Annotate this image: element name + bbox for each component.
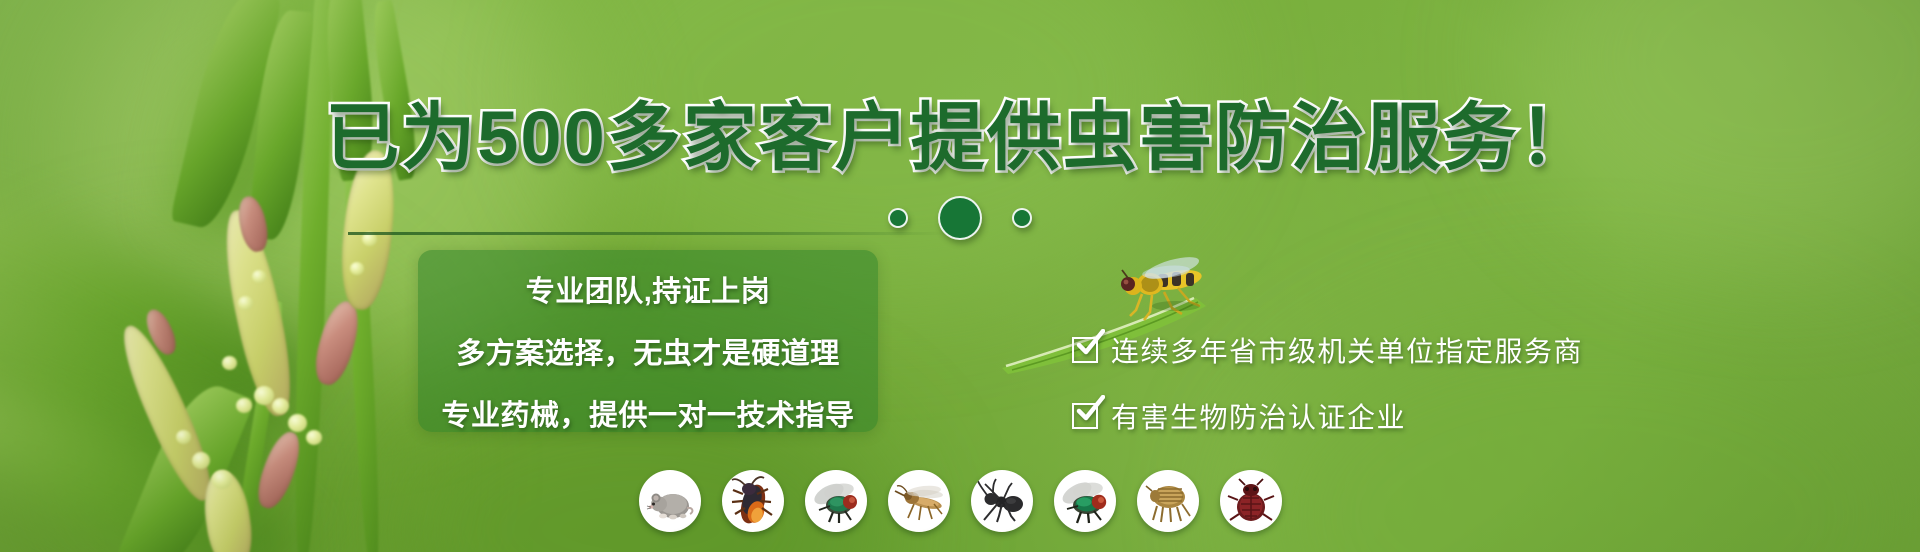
- divider-rule: [348, 232, 948, 235]
- blowfly-icon[interactable]: [1054, 470, 1116, 532]
- pollen-bead: [288, 414, 307, 432]
- mosquito-icon[interactable]: [888, 470, 950, 532]
- ant-icon[interactable]: [971, 470, 1033, 532]
- feature-line-1: 专业团队,持证上岗: [418, 268, 878, 310]
- page-title: 已为500多家客户提供虫害防治服务！: [0, 78, 1920, 185]
- pollen-bead: [350, 262, 364, 275]
- pollen-bead: [272, 398, 289, 414]
- feature-line-3: 专业药械，提供一对一技术指导: [418, 392, 878, 434]
- promo-banner: 已为500多家客户提供虫害防治服务！ 专业团队,持证上岗 多方案选择，无虫才是硬…: [0, 0, 1920, 552]
- bedbug-icon[interactable]: [1220, 470, 1282, 532]
- cockroach-icon[interactable]: [722, 470, 784, 532]
- checkbox-checked-icon: [1072, 403, 1098, 429]
- decorative-dot-small-left: [888, 208, 908, 228]
- checklist-item-2: 有害生物防治认证企业: [1072, 396, 1583, 436]
- decorative-dot-row: [0, 196, 1920, 240]
- checklist-item-1: 连续多年省市级机关单位指定服务商: [1072, 330, 1583, 370]
- housefly-icon[interactable]: [805, 470, 867, 532]
- pest-icon-row: [0, 470, 1920, 532]
- rat-icon[interactable]: [639, 470, 701, 532]
- pollen-bead: [306, 430, 322, 445]
- decorative-dot-small-right: [1012, 208, 1032, 228]
- checkbox-checked-icon: [1072, 337, 1098, 363]
- pollen-bead: [254, 386, 274, 405]
- pollen-bead: [192, 452, 210, 469]
- credentials-checklist: 连续多年省市级机关单位指定服务商 有害生物防治认证企业: [1072, 330, 1583, 462]
- pollen-bead: [236, 398, 252, 413]
- pollen-bead: [222, 356, 237, 370]
- feature-line-2: 多方案选择，无虫才是硬道理: [418, 330, 878, 372]
- checklist-label-2: 有害生物防治认证企业: [1111, 396, 1406, 436]
- pollen-bead: [176, 430, 191, 444]
- flea-icon[interactable]: [1137, 470, 1199, 532]
- pollen-bead: [238, 296, 253, 310]
- feature-highlight-box: 专业团队,持证上岗 多方案选择，无虫才是硬道理 专业药械，提供一对一技术指导: [418, 250, 878, 432]
- checklist-label-1: 连续多年省市级机关单位指定服务商: [1111, 330, 1583, 370]
- pollen-bead: [252, 270, 266, 283]
